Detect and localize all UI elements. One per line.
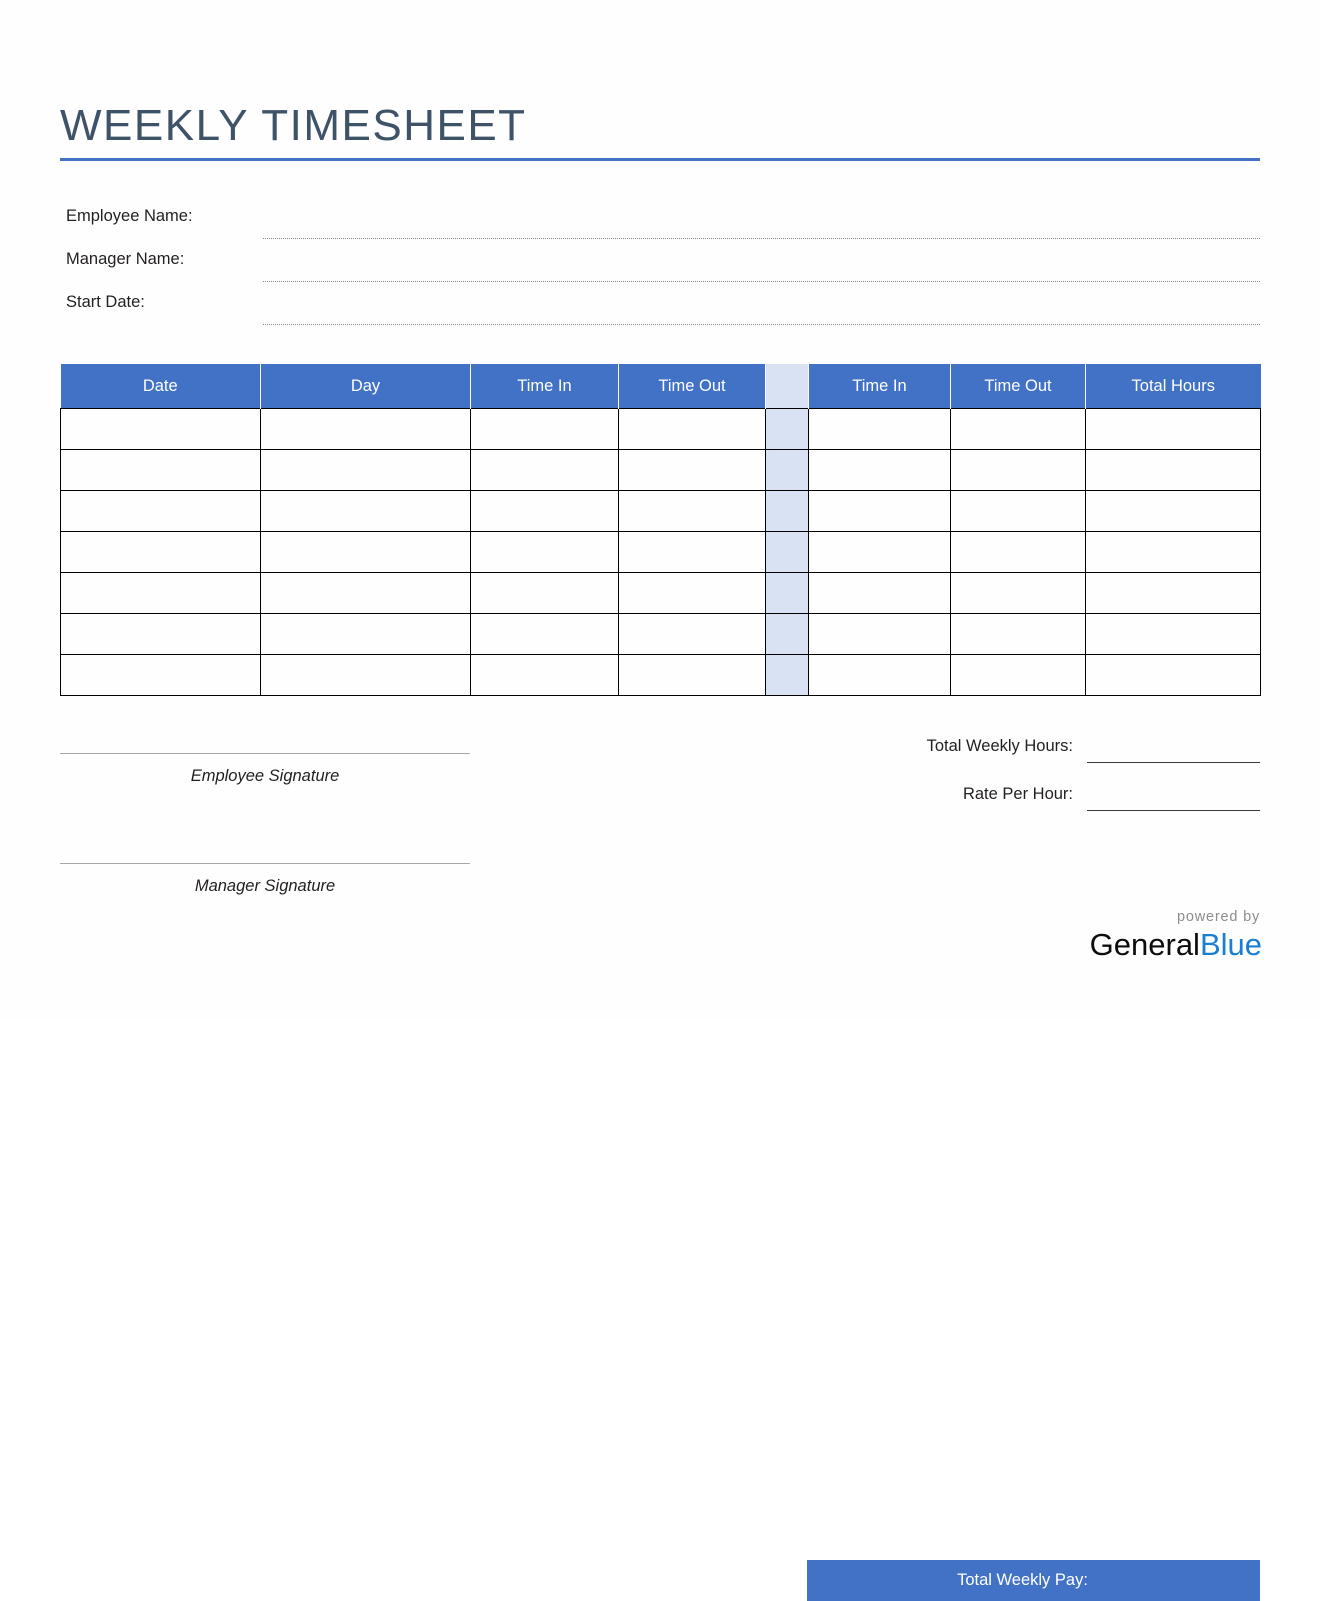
generalblue-logo: powered by GeneralBlue <box>1090 908 1262 964</box>
rate-per-hour-row: Rate Per Hour: <box>800 783 1260 831</box>
cell-spacer <box>766 450 809 491</box>
column-header-total-hours: Total Hours <box>1086 364 1261 409</box>
cell-date[interactable] <box>61 491 261 532</box>
cell-spacer <box>766 614 809 655</box>
cell-spacer <box>766 532 809 573</box>
cell-time-in-1[interactable] <box>471 532 619 573</box>
cell-time-in-1[interactable] <box>471 409 619 450</box>
cell-date[interactable] <box>61 655 261 696</box>
manager-name-input[interactable] <box>263 281 1260 282</box>
cell-day[interactable] <box>261 450 471 491</box>
cell-time-out-2[interactable] <box>951 409 1086 450</box>
manager-name-label: Manager Name: <box>66 248 184 270</box>
logo-wordmark: GeneralBlue <box>1090 926 1262 964</box>
cell-spacer <box>766 573 809 614</box>
column-header-time-in-2: Time In <box>809 364 951 409</box>
logo-blue-text: Blue <box>1200 927 1262 962</box>
rate-per-hour-label: Rate Per Hour: <box>963 783 1073 805</box>
column-header-day: Day <box>261 364 471 409</box>
cell-spacer <box>766 491 809 532</box>
timesheet-page: WEEKLY TIMESHEET Employee Name: Manager … <box>0 0 1320 1020</box>
column-header-time-out-1: Time Out <box>619 364 766 409</box>
cell-total-hours[interactable] <box>1086 614 1261 655</box>
cell-date[interactable] <box>61 614 261 655</box>
cell-time-out-2[interactable] <box>951 614 1086 655</box>
table-body <box>61 409 1261 696</box>
manager-signature-line[interactable] <box>60 863 470 864</box>
total-weekly-hours-input[interactable] <box>1087 762 1260 763</box>
powered-by-label: powered by <box>1090 908 1260 926</box>
cell-total-hours[interactable] <box>1086 409 1261 450</box>
cell-time-out-2[interactable] <box>951 532 1086 573</box>
cell-time-out-1[interactable] <box>619 491 766 532</box>
manager-signature-block: Manager Signature <box>60 863 470 897</box>
employee-name-label: Employee Name: <box>66 205 193 227</box>
cell-time-in-2[interactable] <box>809 532 951 573</box>
cell-time-out-1[interactable] <box>619 614 766 655</box>
cell-day[interactable] <box>261 614 471 655</box>
cell-time-in-2[interactable] <box>809 614 951 655</box>
manager-signature-caption: Manager Signature <box>60 875 470 897</box>
cell-time-out-2[interactable] <box>951 655 1086 696</box>
cell-total-hours[interactable] <box>1086 491 1261 532</box>
timesheet-table: Date Day Time In Time Out Time In Time O… <box>60 364 1261 696</box>
table-row <box>61 491 1261 532</box>
cell-time-in-2[interactable] <box>809 450 951 491</box>
column-header-date: Date <box>61 364 261 409</box>
cell-date[interactable] <box>61 450 261 491</box>
cell-time-in-1[interactable] <box>471 573 619 614</box>
cell-day[interactable] <box>261 532 471 573</box>
cell-time-in-2[interactable] <box>809 655 951 696</box>
cell-time-in-2[interactable] <box>809 409 951 450</box>
form-row-manager-name: Manager Name: <box>60 248 1260 291</box>
start-date-label: Start Date: <box>66 291 145 313</box>
title-divider <box>60 158 1260 161</box>
cell-total-hours[interactable] <box>1086 573 1261 614</box>
cell-date[interactable] <box>61 409 261 450</box>
form-fields: Employee Name: Manager Name: Start Date: <box>60 205 1260 334</box>
cell-total-hours[interactable] <box>1086 532 1261 573</box>
cell-time-out-1[interactable] <box>619 573 766 614</box>
cell-time-in-1[interactable] <box>471 655 619 696</box>
form-row-start-date: Start Date: <box>60 291 1260 334</box>
table-row <box>61 532 1261 573</box>
total-weekly-pay-bar[interactable]: Total Weekly Pay: <box>807 1560 1260 1601</box>
cell-day[interactable] <box>261 409 471 450</box>
cell-day[interactable] <box>261 491 471 532</box>
totals-block: Total Weekly Hours: Rate Per Hour: Total… <box>800 735 1260 831</box>
cell-time-in-1[interactable] <box>471 450 619 491</box>
cell-spacer <box>766 655 809 696</box>
cell-time-out-1[interactable] <box>619 409 766 450</box>
cell-date[interactable] <box>61 532 261 573</box>
table-header-row: Date Day Time In Time Out Time In Time O… <box>61 364 1261 409</box>
start-date-input[interactable] <box>263 324 1260 325</box>
cell-day[interactable] <box>261 573 471 614</box>
cell-total-hours[interactable] <box>1086 655 1261 696</box>
cell-time-out-2[interactable] <box>951 491 1086 532</box>
column-header-spacer <box>766 364 809 409</box>
cell-date[interactable] <box>61 573 261 614</box>
cell-time-out-2[interactable] <box>951 450 1086 491</box>
title-block: WEEKLY TIMESHEET <box>60 98 1260 161</box>
employee-signature-block: Employee Signature <box>60 753 470 787</box>
column-header-time-in-1: Time In <box>471 364 619 409</box>
table-row <box>61 614 1261 655</box>
logo-general-text: General <box>1090 927 1200 962</box>
cell-time-out-1[interactable] <box>619 450 766 491</box>
table-row <box>61 573 1261 614</box>
cell-time-in-1[interactable] <box>471 491 619 532</box>
total-weekly-hours-label: Total Weekly Hours: <box>927 735 1073 757</box>
employee-signature-line[interactable] <box>60 753 470 754</box>
table-row <box>61 450 1261 491</box>
cell-day[interactable] <box>261 655 471 696</box>
employee-signature-caption: Employee Signature <box>60 765 470 787</box>
form-row-employee-name: Employee Name: <box>60 205 1260 248</box>
cell-spacer <box>766 409 809 450</box>
rate-per-hour-input[interactable] <box>1087 810 1260 811</box>
cell-time-in-1[interactable] <box>471 614 619 655</box>
table-row <box>61 409 1261 450</box>
cell-time-out-1[interactable] <box>619 532 766 573</box>
cell-time-out-1[interactable] <box>619 655 766 696</box>
cell-time-in-2[interactable] <box>809 573 951 614</box>
page-title: WEEKLY TIMESHEET <box>60 98 1260 154</box>
column-header-time-out-2: Time Out <box>951 364 1086 409</box>
cell-time-out-2[interactable] <box>951 573 1086 614</box>
table-row <box>61 655 1261 696</box>
total-weekly-hours-row: Total Weekly Hours: <box>800 735 1260 783</box>
cell-time-in-2[interactable] <box>809 491 951 532</box>
employee-name-input[interactable] <box>263 238 1260 239</box>
cell-total-hours[interactable] <box>1086 450 1261 491</box>
